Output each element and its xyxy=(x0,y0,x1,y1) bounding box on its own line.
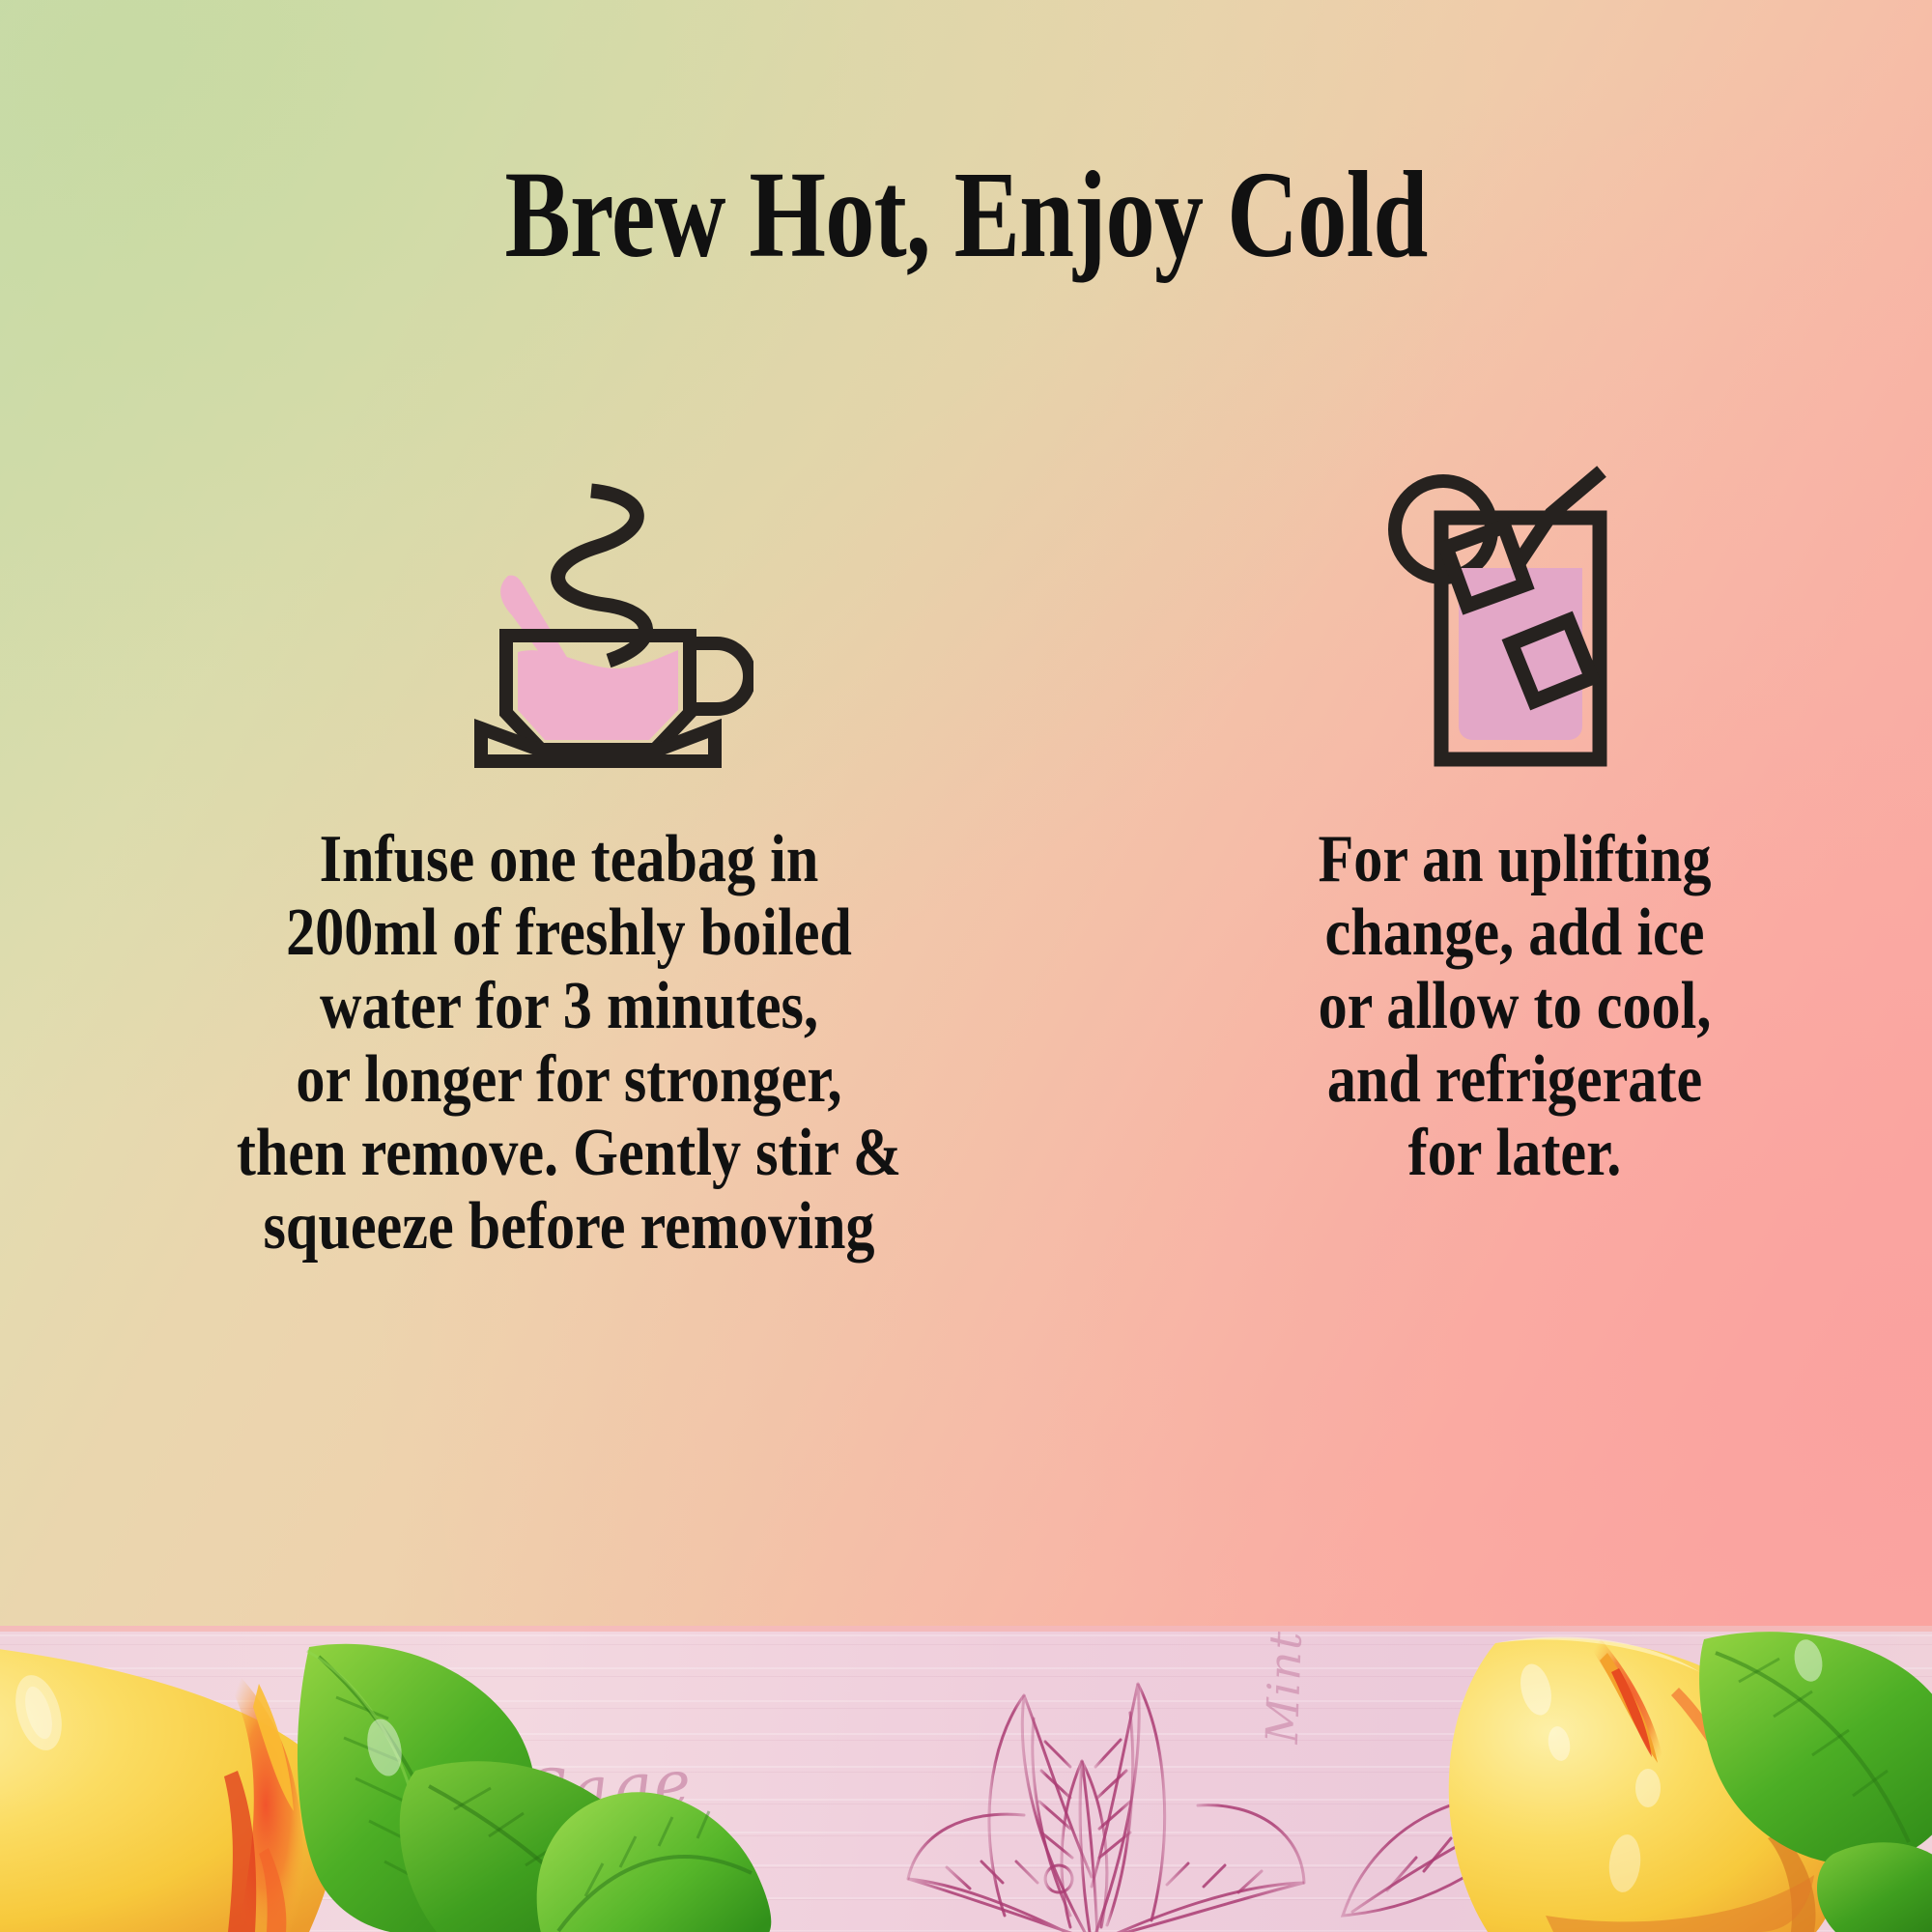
enjoy-cold-instructions: For an uplifting change, add ice or allo… xyxy=(1150,823,1881,1190)
instruction-line: squeeze before removing xyxy=(58,1190,1080,1264)
page-title: Brew Hot, Enjoy Cold xyxy=(193,153,1739,276)
instructions-columns: Infuse one teabag in 200ml of freshly bo… xyxy=(0,454,1932,1536)
bottom-photo-band: Sage Mint xyxy=(0,1626,1932,1932)
instruction-line: water for 3 minutes, xyxy=(58,970,1080,1043)
brew-hot-instructions: Infuse one teabag in 200ml of freshly bo… xyxy=(58,823,1080,1264)
column-enjoy-cold: For an uplifting change, add ice or allo… xyxy=(1111,454,1903,1190)
instruction-line: For an uplifting xyxy=(1150,823,1881,896)
iced-drink-glass-with-straw-icon xyxy=(1372,454,1662,773)
instruction-line: or longer for stronger, xyxy=(58,1043,1080,1117)
poster-root: Brew Hot, Enjoy Cold xyxy=(0,0,1932,1932)
instruction-line: Infuse one teabag in xyxy=(58,823,1080,896)
instruction-line: or allow to cool, xyxy=(1150,970,1881,1043)
instruction-line: change, add ice xyxy=(1150,896,1881,970)
instruction-line: for later. xyxy=(1150,1117,1881,1190)
instruction-line: then remove. Gently stir & xyxy=(58,1117,1080,1190)
peach-and-mint-photography xyxy=(0,1626,1932,1932)
teacup-with-steam-and-spoon-icon xyxy=(425,454,753,773)
peach-slice-left xyxy=(0,1635,338,1932)
instruction-line: 200ml of freshly boiled xyxy=(58,896,1080,970)
column-brew-hot: Infuse one teabag in 200ml of freshly bo… xyxy=(10,454,1111,1264)
instruction-line: and refrigerate xyxy=(1150,1043,1881,1117)
